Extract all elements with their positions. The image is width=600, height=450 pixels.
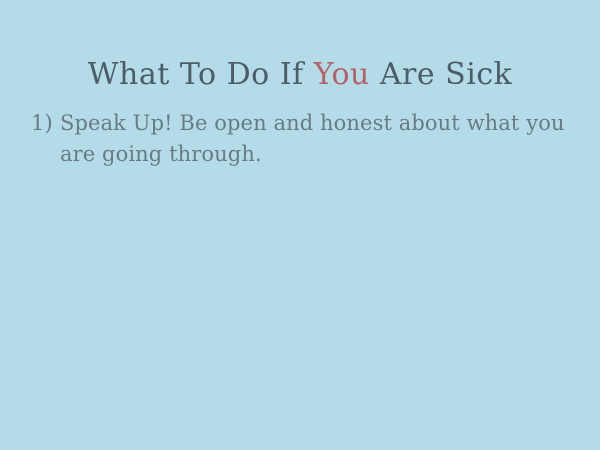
title-text-prefix: What To Do If <box>88 57 314 92</box>
title-text-suffix: Are Sick <box>370 57 512 92</box>
body-bullet-list: 1) Speak Up! Be open and honest about wh… <box>31 108 571 170</box>
title-highlight-word: You <box>314 57 370 92</box>
list-item: 1) Speak Up! Be open and honest about wh… <box>31 108 571 170</box>
slide-canvas: What To Do If You Are Sick 1) Speak Up! … <box>0 0 600 450</box>
list-item-marker: 1) <box>31 108 53 139</box>
list-item-text: Speak Up! Be open and honest about what … <box>60 108 571 170</box>
page-title: What To Do If You Are Sick <box>0 56 600 94</box>
